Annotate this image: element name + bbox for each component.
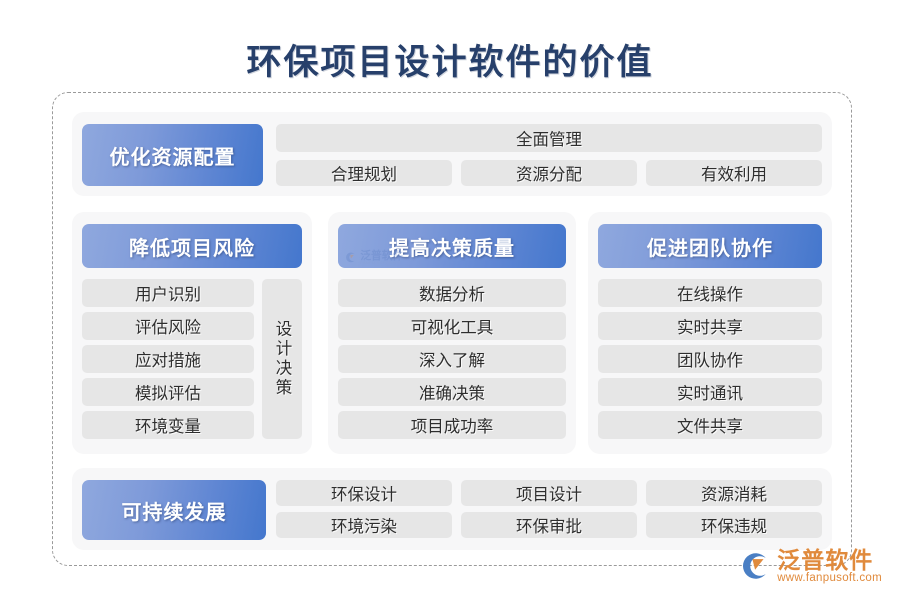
- section-header-promote-team-collaboration[interactable]: 促进团队协作: [598, 224, 822, 268]
- item-pill-a-2[interactable]: 评估风险: [82, 312, 254, 340]
- item-pill-a-3[interactable]: 应对措施: [82, 345, 254, 373]
- item-pill-c-4[interactable]: 实时通讯: [598, 378, 822, 406]
- item-pill-b-2[interactable]: 可视化工具: [338, 312, 566, 340]
- item-pill-bottom-r2-2[interactable]: 环保审批: [461, 512, 637, 538]
- item-pill-b-1[interactable]: 数据分析: [338, 279, 566, 307]
- item-pill-bottom-r2-3[interactable]: 环保违规: [646, 512, 822, 538]
- page-title: 环保项目设计软件的价值: [0, 34, 900, 85]
- section-header-improve-decision-quality[interactable]: 提高决策质量: [338, 224, 566, 268]
- section-header-reduce-project-risk[interactable]: 降低项目风险: [82, 224, 302, 268]
- section-header-sustainable-development[interactable]: 可持续发展: [82, 480, 266, 540]
- item-pill-bottom-r1-2[interactable]: 项目设计: [461, 480, 637, 506]
- item-pill-c-3[interactable]: 团队协作: [598, 345, 822, 373]
- item-pill-b-4[interactable]: 准确决策: [338, 378, 566, 406]
- item-pill-bottom-r1-1[interactable]: 环保设计: [276, 480, 452, 506]
- item-pill-a-1[interactable]: 用户识别: [82, 279, 254, 307]
- item-pill-c-5[interactable]: 文件共享: [598, 411, 822, 439]
- company-logo-url: www.fanpusoft.com: [777, 572, 882, 584]
- company-logo-name: 泛普软件: [777, 548, 873, 572]
- infographic-root: 环保项目设计软件的价值 优化资源配置 全面管理 合理规划 资源分配 有效利用 降…: [0, 0, 900, 600]
- item-pill-top-2[interactable]: 资源分配: [461, 160, 637, 186]
- item-pill-c-2[interactable]: 实时共享: [598, 312, 822, 340]
- item-pill-comprehensive-management[interactable]: 全面管理: [276, 124, 822, 152]
- company-logo[interactable]: 泛普软件 www.fanpusoft.com: [737, 548, 882, 584]
- item-pill-top-1[interactable]: 合理规划: [276, 160, 452, 186]
- item-pill-a-5[interactable]: 环境变量: [82, 411, 254, 439]
- company-logo-icon: [737, 549, 771, 583]
- item-pill-bottom-r1-3[interactable]: 资源消耗: [646, 480, 822, 506]
- item-pill-top-3[interactable]: 有效利用: [646, 160, 822, 186]
- item-pill-b-5[interactable]: 项目成功率: [338, 411, 566, 439]
- item-pill-b-3[interactable]: 深入了解: [338, 345, 566, 373]
- item-pill-a-4[interactable]: 模拟评估: [82, 378, 254, 406]
- item-pill-bottom-r2-1[interactable]: 环境污染: [276, 512, 452, 538]
- section-header-optimize-resources[interactable]: 优化资源配置: [82, 124, 263, 186]
- vertical-label: 设计决策: [270, 320, 294, 398]
- item-pill-c-1[interactable]: 在线操作: [598, 279, 822, 307]
- item-pill-vertical-design-decision[interactable]: 设计决策: [262, 279, 302, 439]
